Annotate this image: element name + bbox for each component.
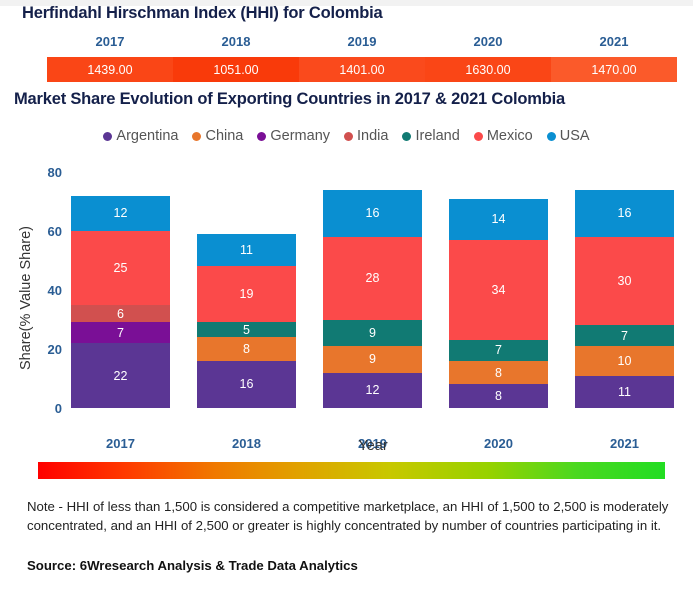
bar-segment-china-2018[interactable]: 8 <box>197 337 296 361</box>
chart-legend: ArgentinaChinaGermanyIndiaIrelandMexicoU… <box>0 128 693 144</box>
legend-item-india[interactable]: India <box>344 128 388 144</box>
legend-label: Ireland <box>415 128 459 144</box>
y-tick-0: 0 <box>24 402 62 415</box>
bar-segment-ireland-2019[interactable]: 9 <box>323 320 422 347</box>
y-tick-60: 60 <box>24 225 62 238</box>
footer-source: Source: 6Wresearch Analysis & Trade Data… <box>27 558 358 573</box>
bar-segment-ireland-2020[interactable]: 7 <box>449 340 548 361</box>
y-tick-40: 40 <box>24 284 62 297</box>
bar-segment-usa-2019[interactable]: 16 <box>323 190 422 237</box>
legend-item-mexico[interactable]: Mexico <box>474 128 533 144</box>
hhi-year-2018: 2018 <box>173 34 299 54</box>
bar-segment-usa-2018[interactable]: 11 <box>197 234 296 266</box>
footer-note: Note - HHI of less than 1,500 is conside… <box>27 498 672 535</box>
hhi-year-2019: 2019 <box>299 34 425 54</box>
y-tick-20: 20 <box>24 343 62 356</box>
legend-item-argentina[interactable]: Argentina <box>103 128 178 144</box>
hhi-value-2020: 1630.00 <box>425 57 551 82</box>
bar-segment-usa-2021[interactable]: 16 <box>575 190 674 237</box>
plot-area: 2276251220171685191120181299281620198873… <box>71 172 675 408</box>
legend-swatch-icon <box>402 132 411 141</box>
bar-segment-argentina-2021[interactable]: 11 <box>575 376 674 408</box>
legend-swatch-icon <box>344 132 353 141</box>
bar-segment-china-2021[interactable]: 10 <box>575 346 674 376</box>
legend-swatch-icon <box>192 132 201 141</box>
legend-swatch-icon <box>103 132 112 141</box>
legend-item-usa[interactable]: USA <box>547 128 590 144</box>
x-axis-label: Year <box>71 438 675 454</box>
hhi-year-2020: 2020 <box>425 34 551 54</box>
bar-segment-mexico-2017[interactable]: 25 <box>71 231 170 305</box>
legend-item-ireland[interactable]: Ireland <box>402 128 459 144</box>
chart-page: Herfindahl Hirschman Index (HHI) for Col… <box>0 0 693 600</box>
bar-column-2021[interactable]: 111073016 <box>575 190 674 408</box>
bar-segment-china-2019[interactable]: 9 <box>323 346 422 373</box>
bar-segment-india-2017[interactable]: 6 <box>71 305 170 323</box>
y-axis-ticks: 020406080 <box>0 150 62 450</box>
bar-segment-usa-2017[interactable]: 12 <box>71 196 170 231</box>
bar-segment-mexico-2019[interactable]: 28 <box>323 237 422 320</box>
hhi-year-2017: 2017 <box>47 34 173 54</box>
hhi-value-bar: 1439.001051.001401.001630.001470.00 <box>47 57 677 82</box>
legend-label: China <box>205 128 243 144</box>
legend-label: Germany <box>270 128 330 144</box>
bar-column-2017[interactable]: 22762512 <box>71 196 170 408</box>
bar-segment-argentina-2020[interactable]: 8 <box>449 384 548 408</box>
hhi-value-2017: 1439.00 <box>47 57 173 82</box>
legend-label: USA <box>560 128 590 144</box>
legend-label: Argentina <box>116 128 178 144</box>
bar-segment-ireland-2021[interactable]: 7 <box>575 325 674 346</box>
bar-segment-argentina-2018[interactable]: 16 <box>197 361 296 408</box>
bar-segment-germany-2017[interactable]: 7 <box>71 322 170 343</box>
bar-segment-usa-2020[interactable]: 14 <box>449 199 548 240</box>
plot-wrapper: Share(% Value Share) 020406080 227625122… <box>0 150 693 450</box>
hhi-title: Herfindahl Hirschman Index (HHI) for Col… <box>22 4 382 23</box>
legend-swatch-icon <box>257 132 266 141</box>
legend-swatch-icon <box>547 132 556 141</box>
legend-item-china[interactable]: China <box>192 128 243 144</box>
chart-title: Market Share Evolution of Exporting Coun… <box>14 90 565 109</box>
hhi-value-2018: 1051.00 <box>173 57 299 82</box>
legend-item-germany[interactable]: Germany <box>257 128 330 144</box>
hhi-value-2019: 1401.00 <box>299 57 425 82</box>
hhi-scale-gradient-bar <box>38 462 665 479</box>
bar-segment-mexico-2021[interactable]: 30 <box>575 237 674 326</box>
bar-column-2020[interactable]: 8873414 <box>449 199 548 408</box>
legend-label: India <box>357 128 388 144</box>
bar-column-2019[interactable]: 12992816 <box>323 190 422 408</box>
bar-column-2018[interactable]: 16851911 <box>197 234 296 408</box>
bar-segment-argentina-2019[interactable]: 12 <box>323 373 422 408</box>
bar-segment-mexico-2018[interactable]: 19 <box>197 266 296 322</box>
hhi-year-2021: 2021 <box>551 34 677 54</box>
bar-segment-argentina-2017[interactable]: 22 <box>71 343 170 408</box>
bar-segment-china-2020[interactable]: 8 <box>449 361 548 385</box>
hhi-year-row: 20172018201920202021 <box>47 34 677 54</box>
legend-swatch-icon <box>474 132 483 141</box>
bar-segment-mexico-2020[interactable]: 34 <box>449 240 548 340</box>
hhi-value-2021: 1470.00 <box>551 57 677 82</box>
legend-label: Mexico <box>487 128 533 144</box>
bar-segment-ireland-2018[interactable]: 5 <box>197 322 296 337</box>
y-tick-80: 80 <box>24 166 62 179</box>
